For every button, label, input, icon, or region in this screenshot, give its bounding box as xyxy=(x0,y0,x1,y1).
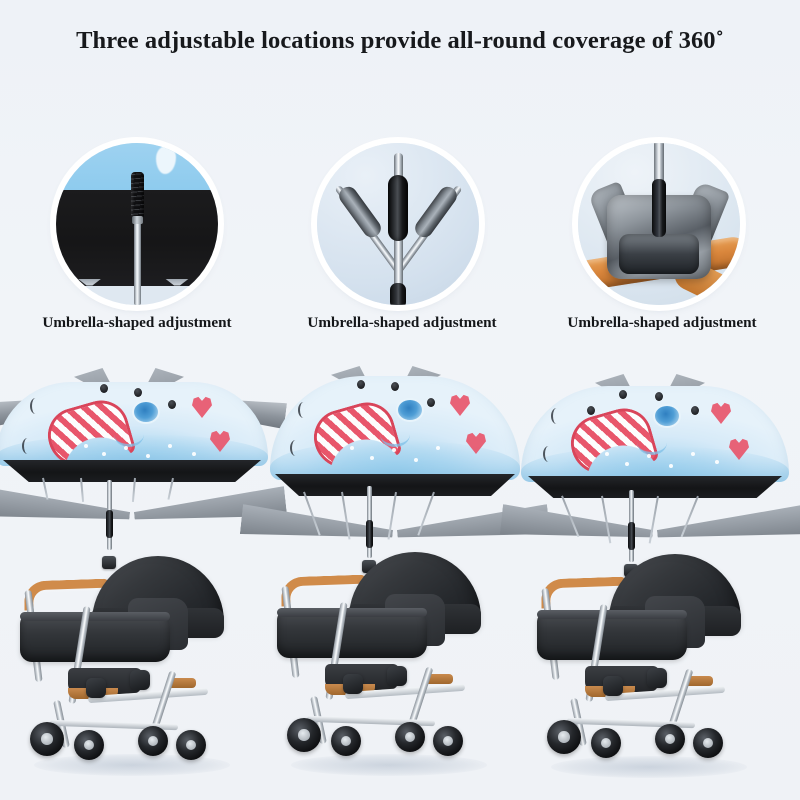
stroller-wheel xyxy=(287,718,321,752)
product-feature-poster: Three adjustable locations provide all-r… xyxy=(0,0,800,800)
stroller-wheel xyxy=(395,722,425,752)
clamp-jaw-icon xyxy=(619,234,699,274)
umbrella-pole-grip-2 xyxy=(366,520,373,548)
canopy-tip-icon xyxy=(357,380,365,389)
stroller-hinge[interactable] xyxy=(603,676,623,696)
stroller-wheel xyxy=(30,722,64,756)
stroller-wheel xyxy=(591,728,621,758)
feature-caption-3: Umbrella-shaped adjustment xyxy=(512,314,800,332)
print-dot xyxy=(102,452,106,456)
ground-shadow xyxy=(291,754,487,776)
stroller-wheel xyxy=(176,730,206,760)
stroller-wheel xyxy=(433,726,463,756)
print-eye xyxy=(132,400,160,424)
clamp-stem-grip-icon xyxy=(652,179,666,237)
stroller-bassinet-rim xyxy=(277,608,427,617)
print-dot xyxy=(392,448,396,452)
stroller-bassinet-rim xyxy=(537,610,687,619)
grip-sleeve-bottom-icon xyxy=(390,283,406,305)
print-heart xyxy=(450,394,470,416)
umbrella-2 xyxy=(245,368,545,538)
canopy-rib-tip-icon xyxy=(165,279,189,286)
print-dot xyxy=(168,444,172,448)
product-1 xyxy=(0,360,282,760)
printed-canopy-2 xyxy=(270,376,520,480)
canopy-tip-icon xyxy=(587,406,595,415)
stroller-wheel xyxy=(74,730,104,760)
print-dot xyxy=(124,446,128,450)
canopy-rib-tip-icon xyxy=(78,279,102,286)
print-swirl xyxy=(380,422,410,447)
print-dot xyxy=(605,452,609,456)
print-dot xyxy=(192,452,196,456)
canopy-rib xyxy=(649,496,659,544)
print-squiggle xyxy=(298,402,309,418)
stroller-2 xyxy=(267,546,497,756)
canopy-tip-icon xyxy=(100,384,108,393)
print-squiggle xyxy=(551,408,562,424)
print-heart xyxy=(192,396,212,418)
coil-spring-icon xyxy=(131,172,144,219)
feature-inset-1 xyxy=(56,143,218,305)
print-eye xyxy=(653,404,681,428)
product-3 xyxy=(505,372,800,772)
stroller-3 xyxy=(527,548,757,758)
stroller-bassinet xyxy=(20,614,170,662)
canopy-tip-icon xyxy=(168,400,176,409)
feature-caption-2: Umbrella-shaped adjustment xyxy=(252,314,552,332)
ground-shadow xyxy=(551,756,747,778)
canopy-tip-icon xyxy=(691,406,699,415)
umbrella-1 xyxy=(0,360,282,530)
print-dot xyxy=(84,444,88,448)
print-heart xyxy=(711,402,731,424)
umbrella-pole-grip-3 xyxy=(628,522,635,550)
print-dot xyxy=(625,462,629,466)
canopy-tip-icon xyxy=(619,390,627,399)
canopy-underside-3 xyxy=(528,476,782,498)
print-squiggle xyxy=(30,398,41,414)
stroller-bassinet xyxy=(537,612,687,660)
stroller-wheel xyxy=(547,720,581,754)
stroller-frame-strut xyxy=(151,670,177,731)
canopy-tip-icon xyxy=(655,392,663,401)
stroller-wheel xyxy=(138,726,168,756)
feature-caption-1: Umbrella-shaped adjustment xyxy=(0,314,287,332)
stroller-hinge[interactable] xyxy=(86,678,106,698)
feature-inset-3 xyxy=(578,143,740,305)
print-dot xyxy=(691,452,695,456)
stroller-wheel xyxy=(655,724,685,754)
feature-inset-2 xyxy=(317,143,479,305)
print-swirl xyxy=(637,430,667,455)
stroller-hinge[interactable] xyxy=(343,674,363,694)
print-squiggle xyxy=(543,446,554,462)
print-swirl xyxy=(114,422,144,447)
canopy-tip-icon xyxy=(427,398,435,407)
canopy-tip-icon xyxy=(134,388,142,397)
stroller-frame-strut xyxy=(408,666,434,727)
umbrella-pole-grip-1 xyxy=(106,510,113,538)
print-dot xyxy=(436,446,440,450)
print-dot xyxy=(370,456,374,460)
print-dot xyxy=(715,460,719,464)
stroller-hinge[interactable] xyxy=(130,670,150,690)
printed-canopy-3 xyxy=(521,386,789,482)
canopy-tip-icon xyxy=(391,382,399,391)
stroller-bassinet xyxy=(277,610,427,658)
print-eye xyxy=(396,398,424,422)
grip-sleeve-center-icon xyxy=(388,175,408,241)
page-title: Three adjustable locations provide all-r… xyxy=(0,27,800,55)
umbrella-3 xyxy=(505,372,800,542)
print-dot xyxy=(647,454,651,458)
stroller-wheel xyxy=(331,726,361,756)
stroller-hinge[interactable] xyxy=(387,666,407,686)
canopy-panel-icon xyxy=(656,504,800,550)
stroller-frame-strut xyxy=(668,668,694,729)
stroller-1 xyxy=(10,550,240,760)
print-squiggle xyxy=(22,438,33,454)
stroller-bassinet-rim xyxy=(20,612,170,621)
product-2 xyxy=(245,368,545,768)
pole-collar-icon xyxy=(132,216,143,224)
stroller-wheel xyxy=(693,728,723,758)
print-squiggle xyxy=(290,440,301,456)
stroller-hinge[interactable] xyxy=(647,668,667,688)
print-dot xyxy=(669,464,673,468)
print-dot xyxy=(146,454,150,458)
print-dot xyxy=(414,458,418,462)
print-dot xyxy=(350,446,354,450)
